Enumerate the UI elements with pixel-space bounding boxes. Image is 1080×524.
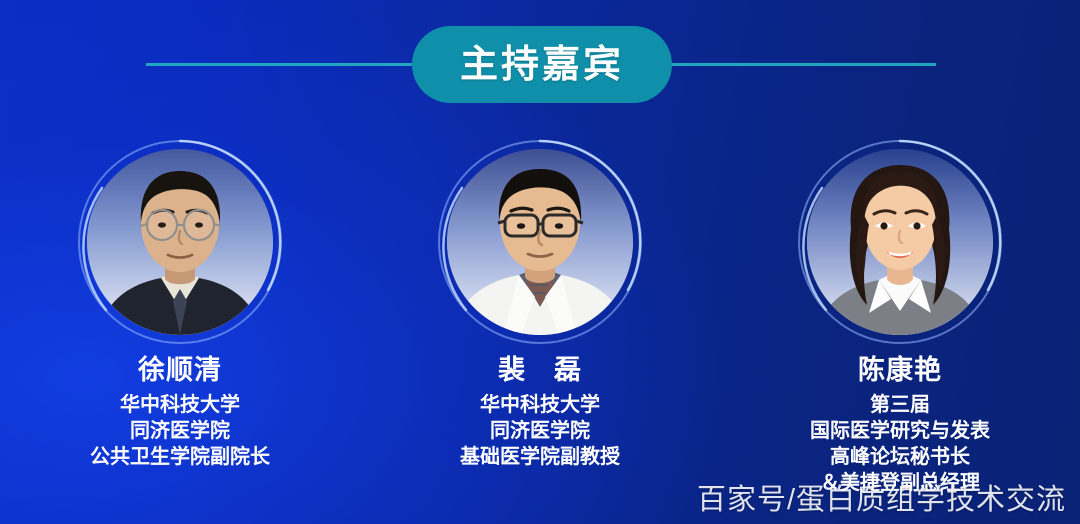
affiliation-line: 华中科技大学 [90, 392, 270, 418]
speaker-affiliation: 华中科技大学 同济医学院 公共卫生学院副院长 [90, 392, 270, 470]
watermark: 百家号/蛋白质组学技术交流 [697, 476, 1066, 518]
portrait-man-glasses-labcoat [447, 149, 633, 335]
portrait-woman-wavy-hair [807, 149, 993, 335]
affiliation-line: 国际医学研究与发表 [810, 418, 990, 444]
speaker-poster: 主持嘉宾 [0, 0, 1080, 524]
title-badge: 主持嘉宾 [412, 26, 672, 103]
speaker-card: 裴 磊 华中科技大学 同济医学院 基础医学院副教授 [360, 138, 720, 524]
speaker-affiliation: 华中科技大学 同济医学院 基础医学院副教授 [460, 392, 620, 470]
header-rule-left [146, 63, 418, 66]
speaker-card: 徐顺清 华中科技大学 同济医学院 公共卫生学院副院长 [0, 138, 360, 524]
affiliation-line: 第三届 [810, 392, 990, 418]
speaker-list: 徐顺清 华中科技大学 同济医学院 公共卫生学院副院长 [0, 138, 1080, 524]
header-rule-right [666, 63, 936, 66]
affiliation-line: 同济医学院 [90, 418, 270, 444]
page-title: 主持嘉宾 [460, 46, 624, 84]
speaker-name: 陈康艳 [858, 356, 942, 386]
speaker-name: 徐顺清 [138, 356, 222, 386]
affiliation-line: 高峰论坛秘书长 [810, 444, 990, 470]
avatar [796, 138, 1004, 346]
affiliation-line: 公共卫生学院副院长 [90, 444, 270, 470]
affiliation-line: 华中科技大学 [460, 392, 620, 418]
speaker-name: 裴 磊 [498, 356, 582, 386]
speaker-card: 陈康艳 第三届 国际医学研究与发表 高峰论坛秘书长 ＆美捷登副总经理 [720, 138, 1080, 524]
poster-header: 主持嘉宾 [0, 0, 1080, 128]
avatar [76, 138, 284, 346]
affiliation-line: 同济医学院 [460, 418, 620, 444]
avatar [436, 138, 644, 346]
affiliation-line: 基础医学院副教授 [460, 444, 620, 470]
portrait-man-glasses-suit [87, 149, 273, 335]
